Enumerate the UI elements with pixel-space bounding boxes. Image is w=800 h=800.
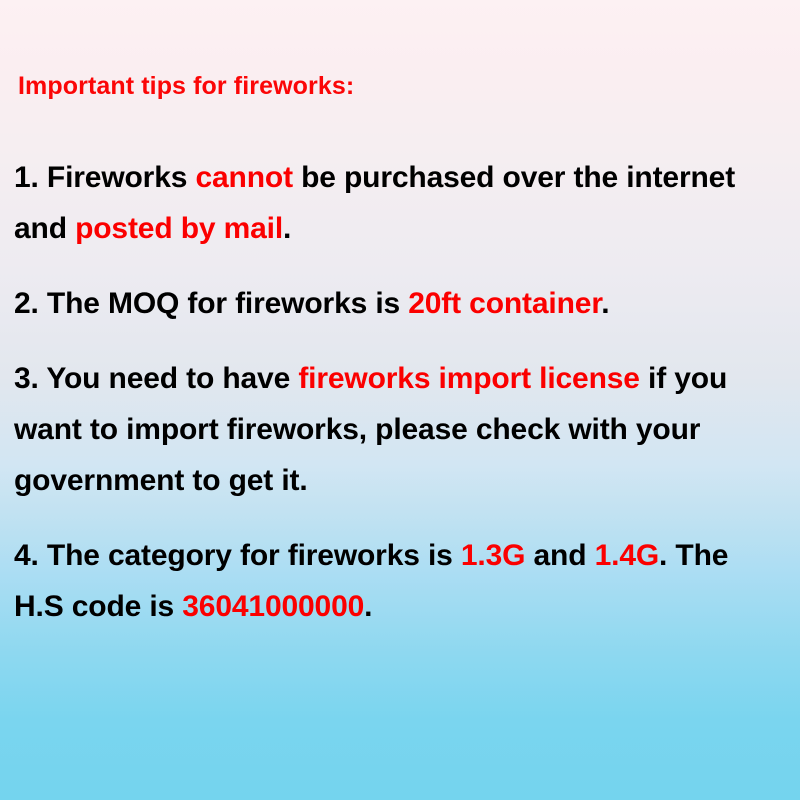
tip-plain-text: . — [601, 287, 609, 320]
tip-plain-text: . — [364, 590, 372, 623]
page-title: Important tips for fireworks: — [18, 72, 354, 101]
tip-highlight-text: 1.3G — [461, 539, 525, 572]
tip-item: 3. You need to have fireworks import lic… — [14, 353, 786, 506]
tip-item: 4. The category for fireworks is 1.3G an… — [14, 530, 786, 632]
tip-plain-text: and — [525, 539, 594, 572]
tip-plain-text: 3. You need to have — [14, 362, 298, 395]
tip-plain-text: 1. Fireworks — [14, 161, 195, 194]
fireworks-tips-card: Important tips for fireworks: 1. Firewor… — [0, 0, 800, 800]
tip-highlight-text: fireworks import license — [298, 362, 640, 395]
tip-highlight-text: 20ft container — [408, 287, 601, 320]
tip-highlight-text: posted by mail — [75, 212, 283, 245]
tip-plain-text: . — [283, 212, 291, 245]
tip-highlight-text: 36041000000 — [182, 590, 364, 623]
tip-highlight-text: 1.4G — [595, 539, 659, 572]
tip-item: 2. The MOQ for fireworks is 20ft contain… — [14, 278, 786, 329]
tips-list: 1. Fireworks cannot be purchased over th… — [14, 152, 786, 632]
tip-plain-text: 2. The MOQ for fireworks is — [14, 287, 408, 320]
tip-highlight-text: cannot — [195, 161, 292, 194]
tip-item: 1. Fireworks cannot be purchased over th… — [14, 152, 786, 254]
tip-plain-text: 4. The category for fireworks is — [14, 539, 461, 572]
